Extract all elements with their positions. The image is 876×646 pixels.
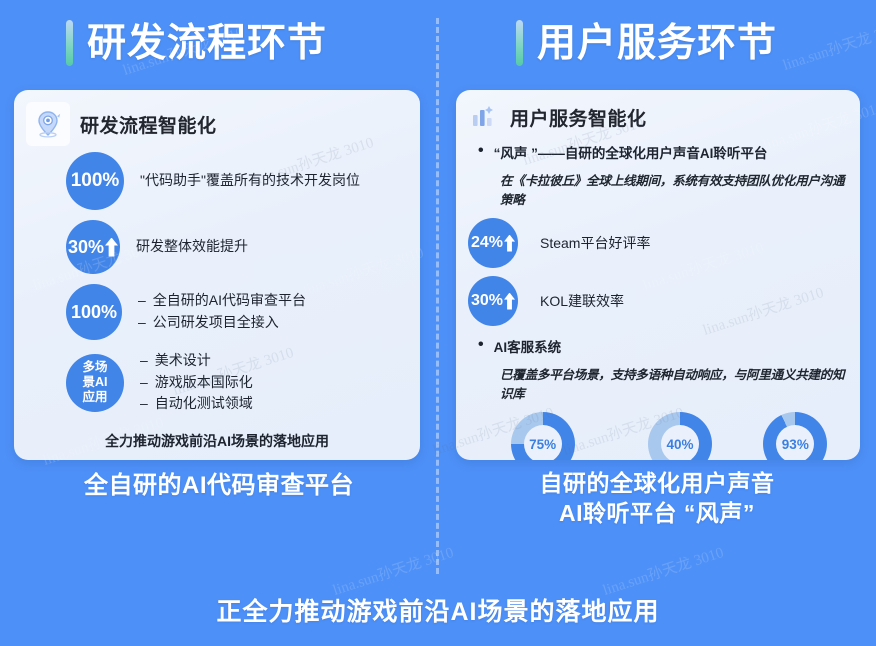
bullet-dot-icon: • xyxy=(472,142,484,162)
bullet-text: “风声 ”——自研的全球化用户声音AI聆听平台 xyxy=(494,142,768,162)
metric-badge-value: 100% xyxy=(71,170,120,192)
dash-bullet-icon: – xyxy=(138,290,146,312)
right-caption-line-1: 自研的全球化用户声音 xyxy=(438,468,876,498)
donut-chart: 93% xyxy=(763,412,827,460)
bullet-item: • “风声 ”——自研的全球化用户声音AI聆听平台 xyxy=(472,142,846,162)
metric-row-text: 研发整体效能提升 xyxy=(136,236,248,258)
metric-badge-value: 多场 xyxy=(82,360,107,375)
bullet-note: 已覆盖多平台场景，支持多语种自动响应，与阿里通义共建的知识库 xyxy=(472,364,846,402)
metric-line: 自动化测试领域 xyxy=(155,393,253,415)
metric-line: 游戏版本国际化 xyxy=(155,372,253,394)
donut-value: 75% xyxy=(524,425,562,460)
location-pin-icon xyxy=(26,102,70,146)
metric-badge-value: 30% xyxy=(471,292,503,310)
metric-line: "代码助手"覆盖所有的技术开发岗位 xyxy=(140,172,360,188)
right-card-title: 用户服务智能化 xyxy=(510,104,647,131)
donut-value: 40% xyxy=(661,425,699,460)
left-card-rows: 100% "代码助手"覆盖所有的技术开发岗位 30% xyxy=(14,152,420,415)
dash-bullet-icon: – xyxy=(140,372,148,394)
up-arrow-icon xyxy=(504,293,515,310)
donut-item: 93% 准确率 xyxy=(763,412,827,460)
accent-bar-icon xyxy=(66,20,73,66)
metric-line: 全自研的AI代码审查平台 xyxy=(153,290,306,312)
metric-badge: 多场 景AI 应用 xyxy=(66,354,124,412)
metric-line: 研发整体效能提升 xyxy=(136,238,248,254)
column-divider xyxy=(436,18,439,574)
metric-badge: 24% xyxy=(468,218,518,268)
left-column: 研发流程环节 研发流程智能化 xyxy=(0,0,438,646)
right-card-header: 用户服务智能化 xyxy=(456,90,860,134)
up-arrow-icon xyxy=(504,235,515,252)
metric-row: 24% Steam平台好评率 xyxy=(468,218,860,268)
metric-row-text: – 全自研的AI代码审查平台 – 公司研发项目全接入 xyxy=(138,290,306,333)
metric-row: 30% 研发整体效能提升 xyxy=(14,220,420,274)
metric-row-text: – 美术设计 – 游戏版本国际化 – 自动化测试领域 xyxy=(140,350,253,415)
right-column-caption: 自研的全球化用户声音 AI聆听平台 “风声” xyxy=(438,468,876,529)
dash-bullet-icon: – xyxy=(140,393,148,415)
left-section-title: 研发流程环节 xyxy=(0,0,438,86)
bullet-text: AI客服系统 xyxy=(494,336,562,356)
donut-chart: 75% xyxy=(511,412,575,460)
left-card: 研发流程智能化 100% "代码助手"覆盖所有的技术开发岗位 xyxy=(14,90,420,460)
right-card-bullets-2: • AI客服系统 已覆盖多平台场景，支持多语种自动响应，与阿里通义共建的知识库 xyxy=(456,334,860,402)
dash-bullet-icon: – xyxy=(140,350,148,372)
donut-chart-group: 75% 高频问题的自助解决 40% 人工介入率下降 93% 准确率 xyxy=(456,404,860,460)
metric-badge-value: 景AI xyxy=(82,375,107,390)
metric-row: 100% "代码助手"覆盖所有的技术开发岗位 xyxy=(14,152,420,210)
accent-bar-icon xyxy=(516,20,523,66)
metric-row-text: KOL建联效率 xyxy=(540,291,624,311)
metric-row-text: Steam平台好评率 xyxy=(540,233,650,253)
right-caption-line-2: AI聆听平台 “风声” xyxy=(438,498,876,528)
metric-badge-value: 应用 xyxy=(82,390,107,405)
right-metric-rows: 24% Steam平台好评率 30% KOL建联效率 xyxy=(456,218,860,326)
donut-value: 93% xyxy=(776,425,814,460)
metric-badge-value: 24% xyxy=(471,234,503,252)
right-section-title: 用户服务环节 xyxy=(438,0,876,86)
page-footer-text: 正全力推动游戏前沿AI场景的落地应用 xyxy=(0,592,876,628)
left-card-header: 研发流程智能化 xyxy=(14,90,420,146)
dash-bullet-icon: – xyxy=(138,312,146,334)
metric-row: 30% KOL建联效率 xyxy=(468,276,860,326)
metric-line: 美术设计 xyxy=(155,350,211,372)
right-card: 用户服务智能化 • “风声 ”——自研的全球化用户声音AI聆听平台 在《卡拉彼丘… xyxy=(456,90,860,460)
metric-line: 公司研发项目全接入 xyxy=(153,312,279,334)
left-card-title: 研发流程智能化 xyxy=(80,111,217,138)
metric-badge-value: 100% xyxy=(71,302,117,323)
metric-badge: 30% xyxy=(66,220,120,274)
bullet-note: 在《卡拉彼丘》全球上线期间，系统有效支持团队优化用户沟通策略 xyxy=(472,170,846,208)
right-section-title-text: 用户服务环节 xyxy=(537,24,777,63)
left-section-title-text: 研发流程环节 xyxy=(87,24,327,63)
metric-row: 多场 景AI 应用 – 美术设计 – 游戏版本国际化 – 自动化测试领域 xyxy=(14,350,420,415)
left-column-caption: 全自研的AI代码审查平台 xyxy=(0,470,438,502)
donut-item: 75% 高频问题的自助解决 xyxy=(489,412,597,460)
metric-badge-value: 30% xyxy=(68,237,104,258)
metric-badge: 30% xyxy=(468,276,518,326)
bullet-dot-icon: • xyxy=(472,336,484,356)
donut-item: 40% 人工介入率下降 xyxy=(638,412,722,460)
right-card-bullets: • “风声 ”——自研的全球化用户声音AI聆听平台 在《卡拉彼丘》全球上线期间，… xyxy=(456,134,860,208)
left-card-footer: 全力推动游戏前沿AI场景的落地应用 xyxy=(14,431,420,451)
metric-row-text: "代码助手"覆盖所有的技术开发岗位 xyxy=(140,170,360,192)
up-arrow-icon xyxy=(105,238,118,257)
metric-row: 100% – 全自研的AI代码审查平台 – 公司研发项目全接入 xyxy=(14,284,420,340)
bar-chart-icon xyxy=(466,100,500,134)
bullet-item: • AI客服系统 xyxy=(472,336,846,356)
metric-badge: 100% xyxy=(66,284,122,340)
donut-chart: 40% xyxy=(648,412,712,460)
metric-badge: 100% xyxy=(66,152,124,210)
right-column: 用户服务环节 用户服务智能化 • “风声 ”——自研的全球化用户声音AI聆 xyxy=(438,0,876,646)
